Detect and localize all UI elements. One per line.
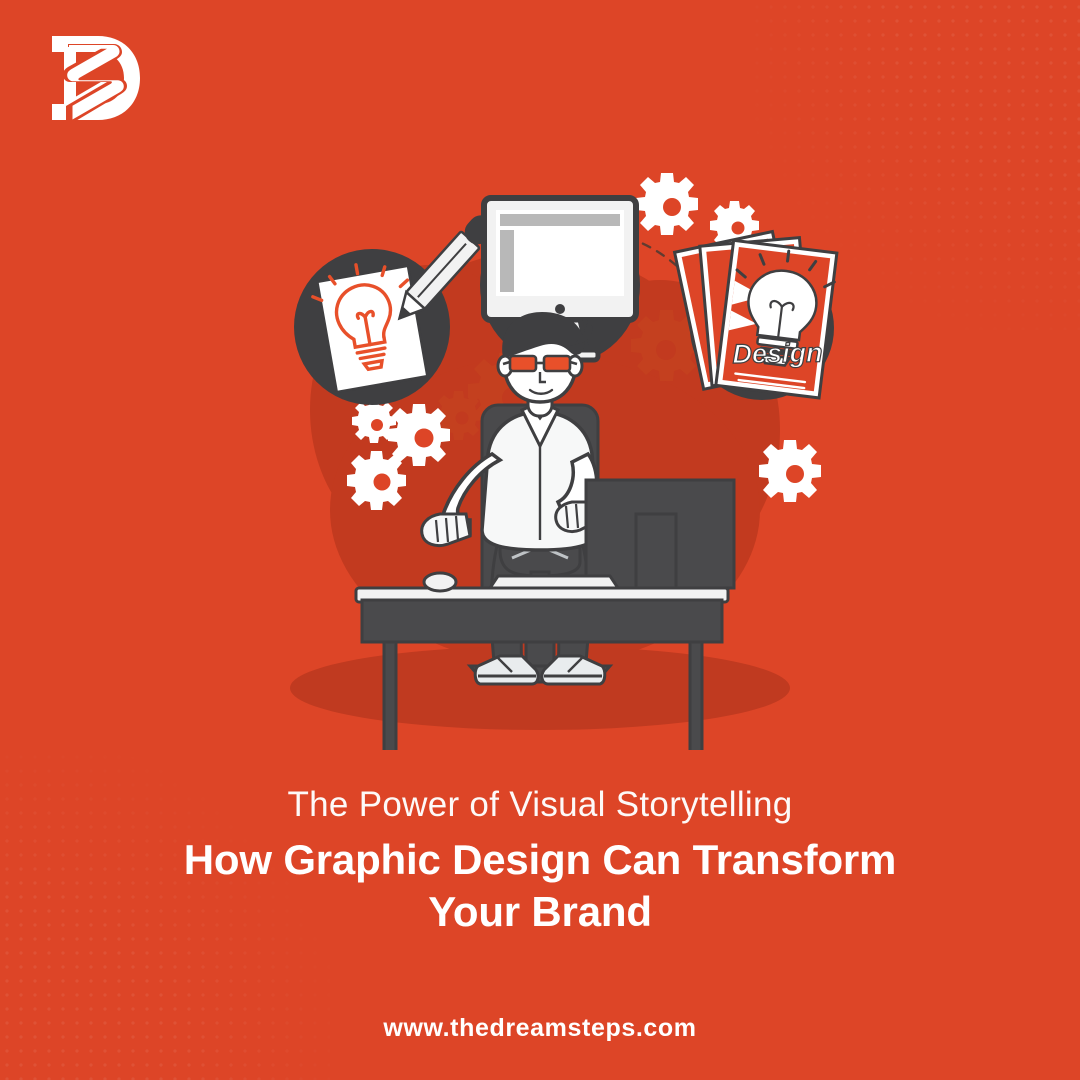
page-title: How Graphic Design Can Transform Your Br… [0, 834, 1080, 938]
headline-line-1: How Graphic Design Can Transform [184, 836, 896, 883]
graphic-designer-at-desk-illustration: Design [0, 110, 1080, 750]
website-url[interactable]: www.thedreamsteps.com [0, 1014, 1080, 1043]
poster-design-text: Design [732, 338, 823, 370]
desk-monitor [586, 480, 734, 588]
keyboard-and-mouse [424, 573, 618, 591]
eyebrow-text: The Power of Visual Storytelling [0, 782, 1080, 828]
design-poster-stack: Design [675, 232, 838, 400]
headline-block: The Power of Visual Storytelling How Gra… [0, 782, 1080, 938]
poster-canvas: Design [0, 0, 1080, 1080]
headline-line-2: Your Brand [0, 886, 1080, 938]
